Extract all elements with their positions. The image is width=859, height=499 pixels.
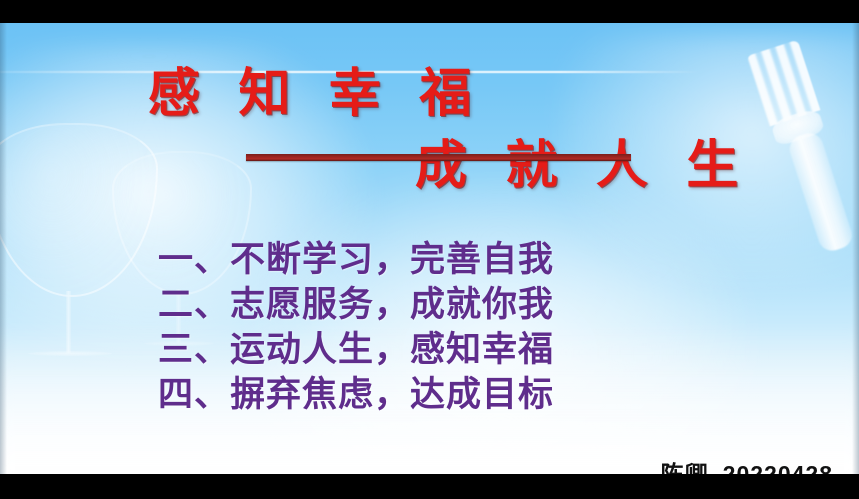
slide-footer: 陈卿20220428: [661, 455, 833, 474]
letterbox-bar-bottom: [0, 474, 859, 499]
slide-title-line-1: 感 知 幸 福: [148, 65, 859, 123]
title-underline-bar: [246, 154, 631, 161]
slide-screenshot: 感 知 幸 福 成 就 人 生 一、不断学习，完善自我 二、志愿服务，成就你我 …: [0, 0, 859, 499]
list-item: 二、志愿服务，成就你我: [158, 282, 698, 327]
list-item: 三、运动人生，感知幸福: [158, 327, 698, 372]
wine-glass-foot: [28, 351, 112, 356]
slide-body-list: 一、不断学习，完善自我 二、志愿服务，成就你我 三、运动人生，感知幸福 四、摒弃…: [158, 237, 698, 417]
wine-glass-stem: [66, 291, 71, 353]
slide-title-block: 感 知 幸 福 成 就 人 生: [0, 65, 859, 195]
footer-date: 20220428: [723, 461, 833, 474]
slide-title-line-2: 成 就 人 生: [415, 137, 859, 195]
list-item: 一、不断学习，完善自我: [158, 237, 698, 282]
presentation-slide: 感 知 幸 福 成 就 人 生 一、不断学习，完善自我 二、志愿服务，成就你我 …: [0, 23, 859, 474]
letterbox-bar-top: [0, 0, 859, 23]
footer-author-name: 陈卿: [661, 461, 709, 474]
list-item: 四、摒弃焦虑，达成目标: [158, 372, 698, 417]
